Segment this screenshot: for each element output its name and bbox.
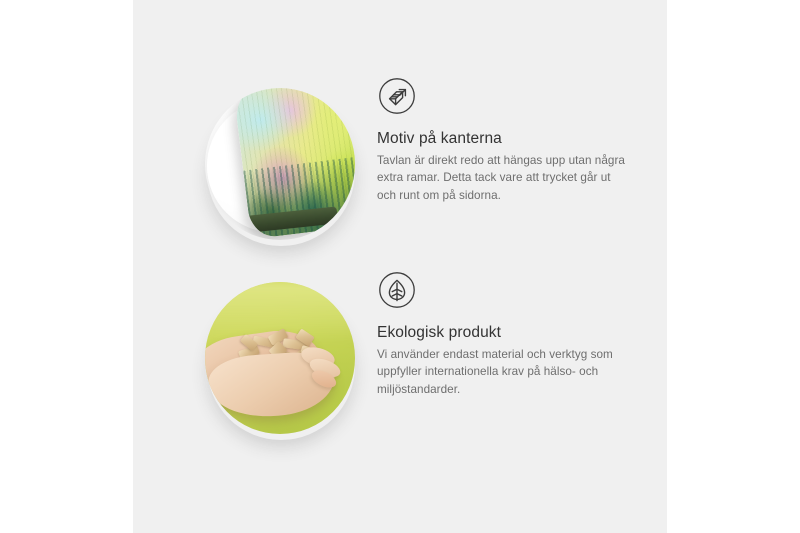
infographic-panel: Motiv på kanterna Tavlan är direkt redo … bbox=[0, 0, 800, 533]
photo-circle-mask bbox=[205, 88, 355, 240]
leaf-icon bbox=[377, 270, 417, 310]
feature-body-text: Vi använder endast material och verktyg … bbox=[377, 346, 627, 398]
grass-background bbox=[205, 282, 355, 434]
photo-circle-mask bbox=[205, 282, 355, 434]
feature-block-motiv-pa-kanterna: Motiv på kanterna Tavlan är direkt redo … bbox=[133, 76, 667, 256]
feature-body-text: Tavlan är direkt redo att hängas upp uta… bbox=[377, 152, 627, 204]
feature-title: Ekologisk produkt bbox=[377, 323, 667, 342]
feature-text-ekologisk-produkt: Ekologisk produkt Vi använder endast mat… bbox=[361, 270, 667, 398]
feature-title: Motiv på kanterna bbox=[377, 129, 667, 148]
content-background: Motiv på kanterna Tavlan är direkt redo … bbox=[133, 0, 667, 533]
feature-block-ekologisk-produkt: Ekologisk produkt Vi använder endast mat… bbox=[133, 270, 667, 445]
feature-text-motiv-pa-kanterna: Motiv på kanterna Tavlan är direkt redo … bbox=[361, 76, 667, 204]
canvas-print-photo bbox=[191, 76, 361, 256]
canvas-wrap-edge-icon bbox=[377, 76, 417, 116]
wood-chips-hands-photo bbox=[191, 270, 361, 450]
canvas-scene bbox=[205, 88, 355, 240]
canvas-block bbox=[233, 88, 355, 239]
